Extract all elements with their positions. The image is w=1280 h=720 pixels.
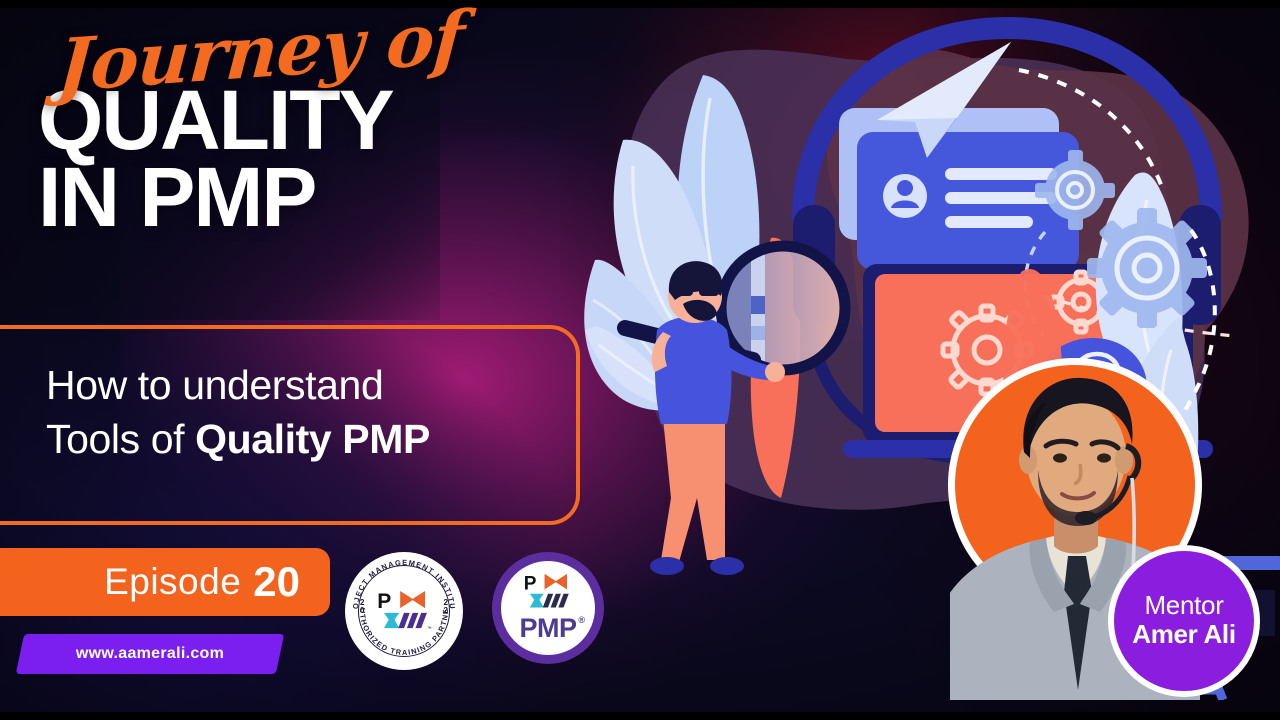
svg-text:™: ™ <box>427 626 432 632</box>
subtitle-line-2-bold: Quality PMP <box>195 416 430 462</box>
card-line-3 <box>945 216 1033 228</box>
episode-number: 20 <box>253 558 300 606</box>
pmp-badge-word: PMP® <box>519 613 576 644</box>
gear-large-light <box>1087 208 1207 328</box>
presenter-eye-left <box>1053 453 1067 462</box>
subtitle-line-1: How to understand <box>46 358 566 412</box>
pmi-year-left: 2 0 <box>360 599 364 616</box>
card-line-1 <box>945 168 1057 180</box>
pmi-logo-mark-pmp: P <box>522 573 574 611</box>
person-torso <box>655 317 732 425</box>
person-glasses-right <box>699 286 719 296</box>
pmp-certification-badge: P PMP® <box>492 552 604 664</box>
thumbnail-canvas: Journey of QUALITY IN PMP How to underst… <box>0 0 1280 720</box>
subtitle-line-2: Tools of Quality PMP <box>46 412 566 466</box>
person-legs <box>661 418 725 562</box>
pmp-badge-disc: P PMP® <box>501 561 595 655</box>
card-avatar-head <box>897 180 913 196</box>
episode-label: Episode <box>104 561 241 603</box>
pmi-year-right: 2 2 <box>444 599 448 616</box>
mentor-badge: Mentor Amer Ali <box>1108 545 1260 697</box>
pmi-year-left-bottom: 0 <box>360 607 364 615</box>
person-shoe-left <box>650 557 684 575</box>
headline-line-2: IN PMP <box>38 159 578 236</box>
person-glasses-left <box>673 286 693 296</box>
presenter-eye-right <box>1097 453 1111 462</box>
svg-text:P: P <box>524 573 537 594</box>
pmi-atp-seal: PROJECT MANAGEMENT INSTITUTE AUTHORIZED … <box>345 552 463 670</box>
subtitle-text: How to understand Tools of Quality PMP <box>46 358 566 466</box>
person-shoe-right <box>710 557 744 575</box>
person-hand <box>765 362 785 382</box>
presenter-headset-mic <box>1075 511 1097 525</box>
website-url: www.aamerali.com <box>20 634 280 674</box>
pmi-year-right-bottom: 2 <box>444 607 448 615</box>
headline-main: QUALITY IN PMP <box>38 82 578 237</box>
mentor-name: Amer Ali <box>1132 620 1236 650</box>
letterbox-top <box>0 0 1280 8</box>
pmp-badge-trademark: ® <box>578 615 584 625</box>
mentor-role: Mentor <box>1144 592 1223 619</box>
svg-text:P: P <box>377 590 391 613</box>
headline-group: Journey of QUALITY IN PMP <box>38 38 578 237</box>
letterbox-bottom <box>0 712 1280 720</box>
pmi-logo-mark-seal: P ™ <box>375 590 433 632</box>
episode-badge: Episode 20 <box>0 548 330 616</box>
subtitle-line-2-prefix: Tools of <box>46 416 195 462</box>
pmp-badge-word-text: PMP <box>519 613 576 643</box>
